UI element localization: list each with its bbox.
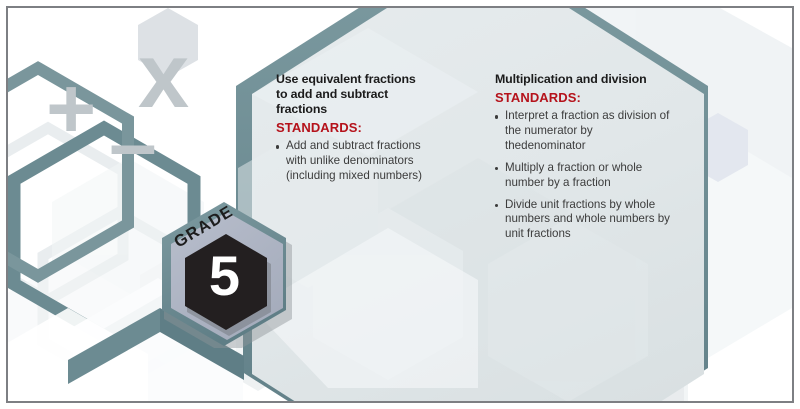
standards-column-multiplication-division: Multiplication and division STANDARDS: I… — [495, 72, 675, 242]
bullet-dot-icon — [495, 204, 498, 207]
poster-artboard: + – x Use equivalent fractions to add an… — [8, 8, 792, 401]
bullet-dot-icon — [276, 145, 279, 148]
infographic-stage: + – x Use equivalent fractions to add an… — [0, 0, 800, 409]
list-item-text: Interpret a fraction as division of the … — [505, 109, 669, 152]
grade-badge-hexagons — [149, 198, 299, 348]
standards-list: Add and subtract fractions with unlike d… — [276, 139, 442, 184]
plus-icon: + — [46, 66, 96, 152]
list-item: Add and subtract fractions with unlike d… — [276, 139, 442, 184]
column-heading: Use equivalent fractions to add and subt… — [276, 72, 442, 117]
bullet-dot-icon — [495, 115, 498, 118]
list-item: Divide unit fractions by whole numbers a… — [495, 198, 675, 243]
standards-list: Interpret a fraction as division of the … — [495, 109, 675, 242]
standards-column-equivalent-fractions: Use equivalent fractions to add and subt… — [276, 72, 442, 184]
list-item-text: Divide unit fractions by whole numbers a… — [505, 198, 670, 241]
bullet-dot-icon — [495, 167, 498, 170]
list-item: Interpret a fraction as division of the … — [495, 109, 675, 154]
standards-label: STANDARDS: — [276, 120, 442, 135]
multiply-icon: x — [138, 30, 189, 122]
list-item-text: Multiply a fraction or whole number by a… — [505, 161, 642, 189]
column-heading: Multiplication and division — [495, 72, 675, 87]
column-heading-line1: Use equivalent fractions — [276, 72, 416, 86]
grade-badge: GRADE 5 — [149, 198, 299, 348]
standards-label: STANDARDS: — [495, 90, 675, 105]
column-heading-line2: to add and subtract fractions — [276, 87, 388, 116]
list-item: Multiply a fraction or whole number by a… — [495, 161, 675, 191]
poster-frame: + – x Use equivalent fractions to add an… — [6, 6, 794, 403]
list-item-text: Add and subtract fractions with unlike d… — [286, 139, 422, 182]
